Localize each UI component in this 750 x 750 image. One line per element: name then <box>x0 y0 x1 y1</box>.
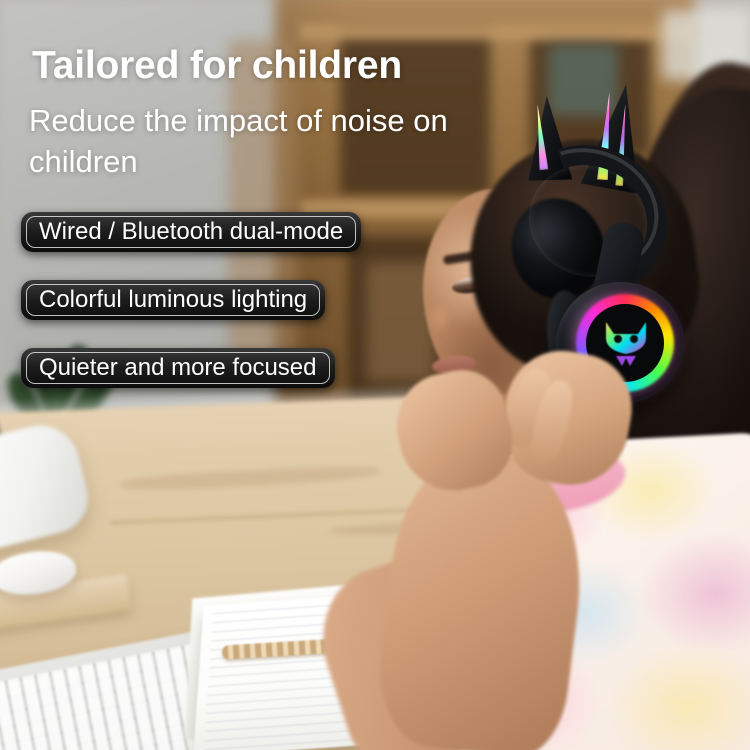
page-title: Tailored for children <box>32 44 402 88</box>
nose <box>427 300 453 334</box>
page-subtitle: Reduce the impact of noise on children <box>29 100 469 182</box>
feature-badge-row: Quieter and more focused <box>21 348 361 416</box>
shelf-bar <box>300 24 700 40</box>
feature-badge-label: Colorful luminous lighting <box>32 286 314 314</box>
feature-badge-label: Quieter and more focused <box>32 354 324 382</box>
feature-badge-focus[interactable]: Quieter and more focused <box>21 348 335 388</box>
feature-badge-dual-mode[interactable]: Wired / Bluetooth dual-mode <box>21 212 361 252</box>
feature-badge-lighting[interactable]: Colorful luminous lighting <box>21 280 325 320</box>
feature-badge-row: Colorful luminous lighting <box>21 280 361 348</box>
feature-badge-list: Wired / Bluetooth dual-mode Colorful lum… <box>21 212 361 416</box>
cat-logo-icon <box>598 316 654 368</box>
feature-badge-row: Wired / Bluetooth dual-mode <box>21 212 361 280</box>
feature-badge-label: Wired / Bluetooth dual-mode <box>32 218 350 246</box>
product-banner: Tailored for children Reduce the impact … <box>0 0 750 750</box>
shelf-object <box>548 44 618 116</box>
